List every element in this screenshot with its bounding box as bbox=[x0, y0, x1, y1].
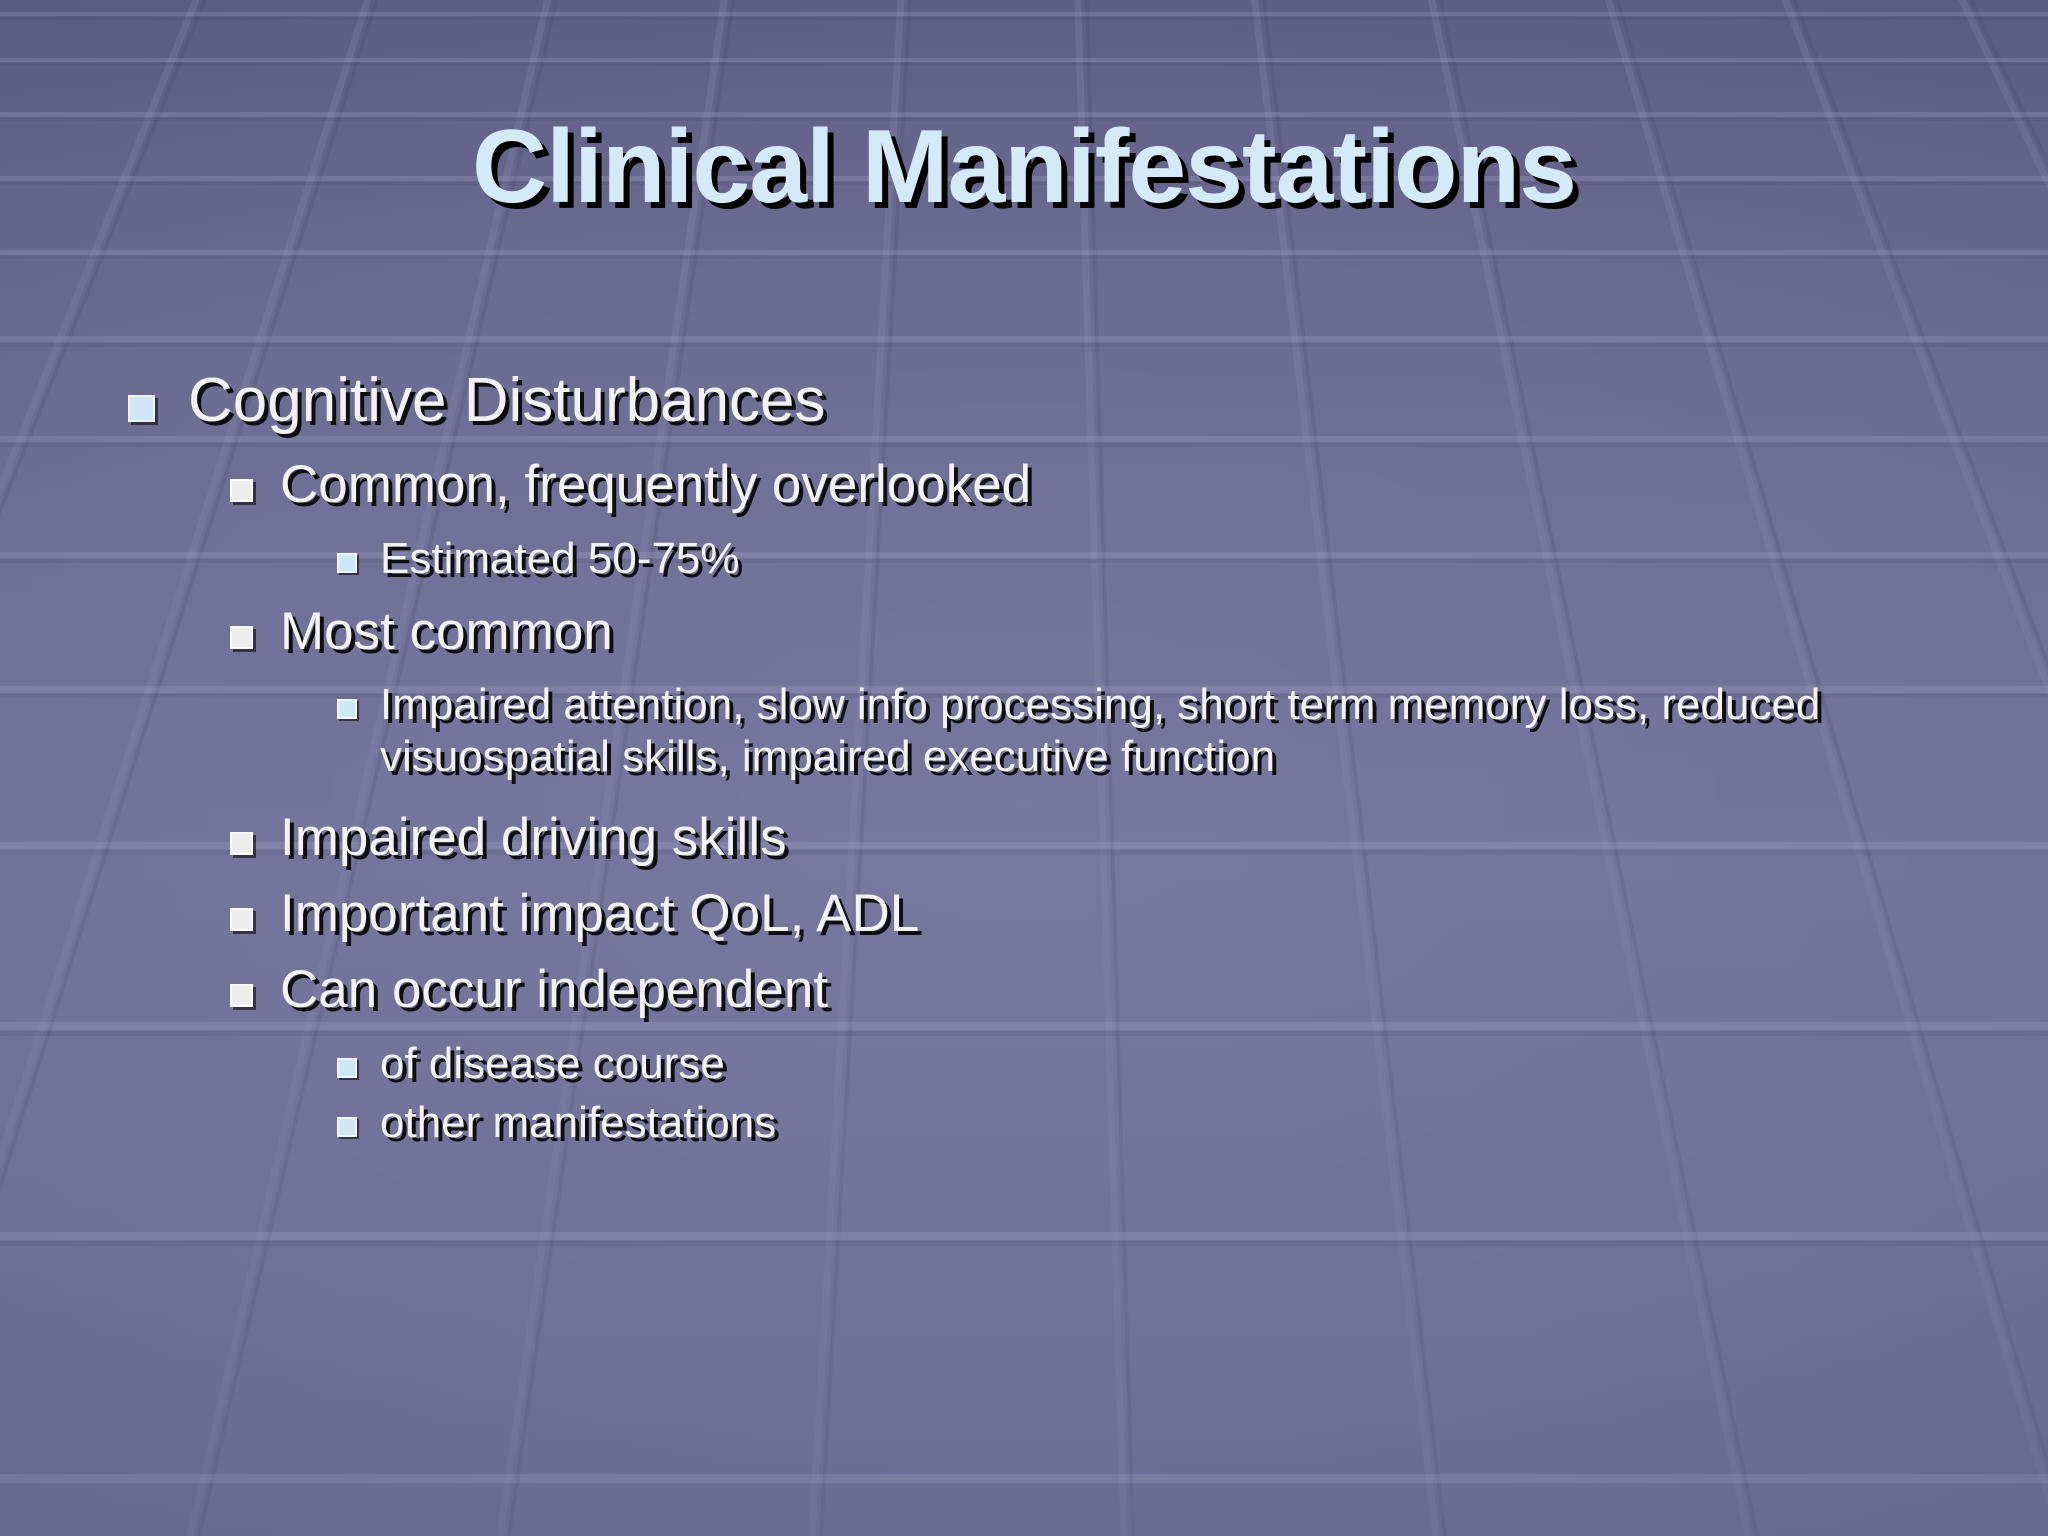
bullet-item-level2: Impaired driving skills bbox=[0, 809, 2048, 867]
square-bullet-icon bbox=[337, 1058, 357, 1078]
slide-title: Clinical Manifestations bbox=[0, 113, 2048, 222]
square-bullet-icon bbox=[230, 832, 253, 855]
bullet-text: of disease course bbox=[380, 1038, 725, 1090]
bullet-item-level3: Estimated 50-75% bbox=[0, 533, 2048, 585]
bullet-item-level2: Most common bbox=[0, 603, 2048, 661]
bullet-item-level3: of disease course bbox=[0, 1038, 2048, 1090]
bullet-text: Cognitive Disturbances bbox=[188, 368, 826, 434]
bullet-text: Impaired attention, slow info processing… bbox=[380, 679, 1940, 783]
bullet-text: Important impact QoL, ADL bbox=[280, 885, 919, 943]
square-bullet-icon bbox=[337, 699, 357, 719]
bullet-text: Estimated 50-75% bbox=[380, 533, 740, 585]
presentation-slide: Clinical Manifestations Cognitive Distur… bbox=[0, 0, 2048, 1536]
bullet-item-level2: Common, frequently overlooked bbox=[0, 456, 2048, 514]
bullet-item-level1: Cognitive Disturbances bbox=[0, 368, 2048, 434]
bullet-text: other manifestations bbox=[380, 1097, 776, 1149]
bullet-item-level3: other manifestations bbox=[0, 1097, 2048, 1149]
bullet-item-level2: Can occur independent bbox=[0, 961, 2048, 1019]
square-bullet-icon bbox=[230, 626, 253, 649]
bullet-item-level2: Important impact QoL, ADL bbox=[0, 885, 2048, 943]
square-bullet-icon bbox=[230, 908, 253, 931]
slide-body-content: Cognitive Disturbances Common, frequentl… bbox=[0, 368, 2048, 1157]
bullet-item-level3: Impaired attention, slow info processing… bbox=[0, 679, 2048, 783]
bullet-text: Most common bbox=[280, 603, 613, 661]
bullet-text: Can occur independent bbox=[280, 961, 828, 1019]
square-bullet-icon bbox=[128, 395, 155, 422]
square-bullet-icon bbox=[230, 984, 253, 1007]
square-bullet-icon bbox=[337, 553, 357, 573]
square-bullet-icon bbox=[230, 479, 253, 502]
bullet-text: Impaired driving skills bbox=[280, 809, 787, 867]
bullet-text: Common, frequently overlooked bbox=[280, 456, 1031, 514]
square-bullet-icon bbox=[337, 1117, 357, 1137]
